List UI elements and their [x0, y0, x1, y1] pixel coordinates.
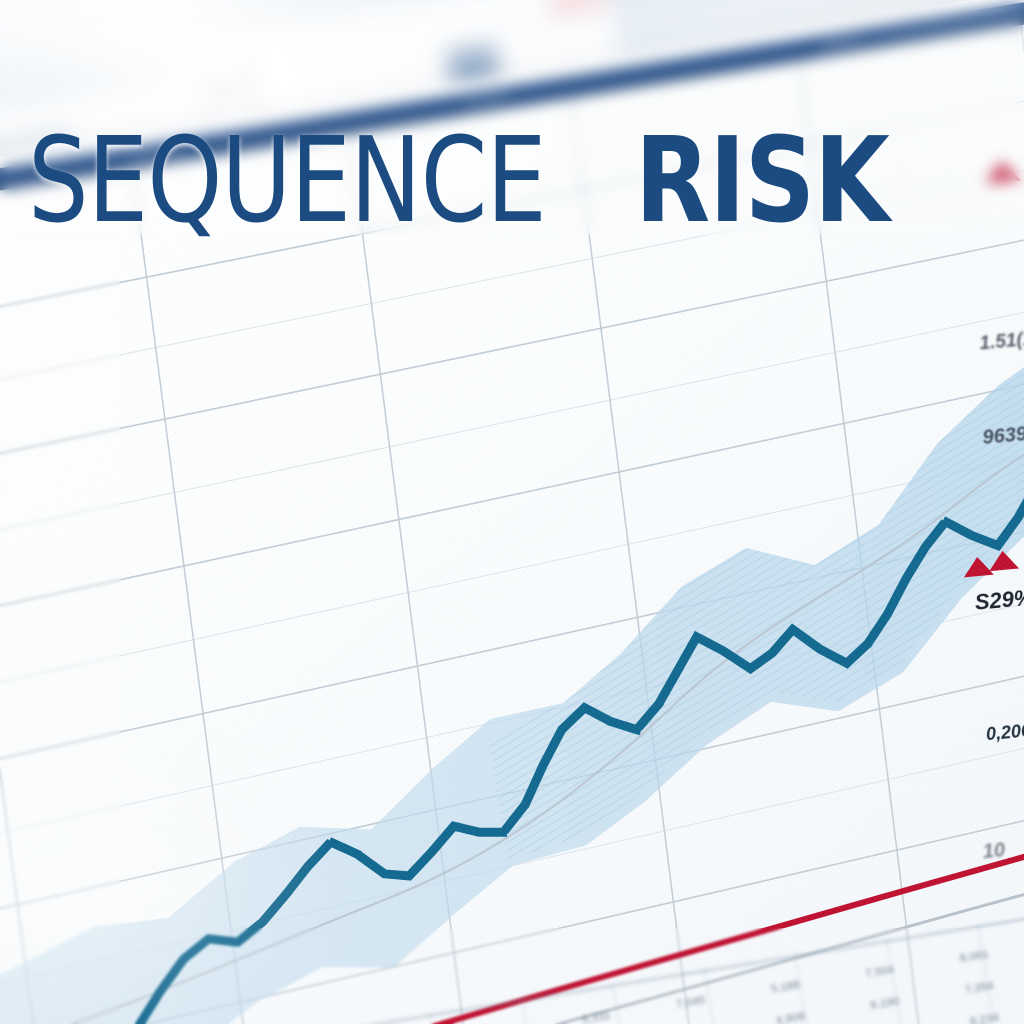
callout-ratio-value: 0,206: [985, 720, 1024, 745]
up-triangle-marker-right: [988, 550, 1020, 572]
page-title-thin: SEQUENCE: [28, 121, 546, 239]
page-title: SEQUENCE RISK: [28, 121, 996, 240]
header-bar-label-2: allocation: [466, 91, 511, 108]
screenshot-root: report view allocation portfolio: [0, 0, 1024, 1024]
callout-percentage: S29%: [974, 585, 1024, 616]
page-title-bold: RISK: [635, 121, 889, 239]
callout-series-value: 9639: [982, 423, 1024, 450]
hatched-band-overlay: [434, 279, 1024, 860]
header-bar-label-3: portfolio: [821, 34, 860, 50]
callout-arrow-value: 10: [982, 839, 1006, 864]
